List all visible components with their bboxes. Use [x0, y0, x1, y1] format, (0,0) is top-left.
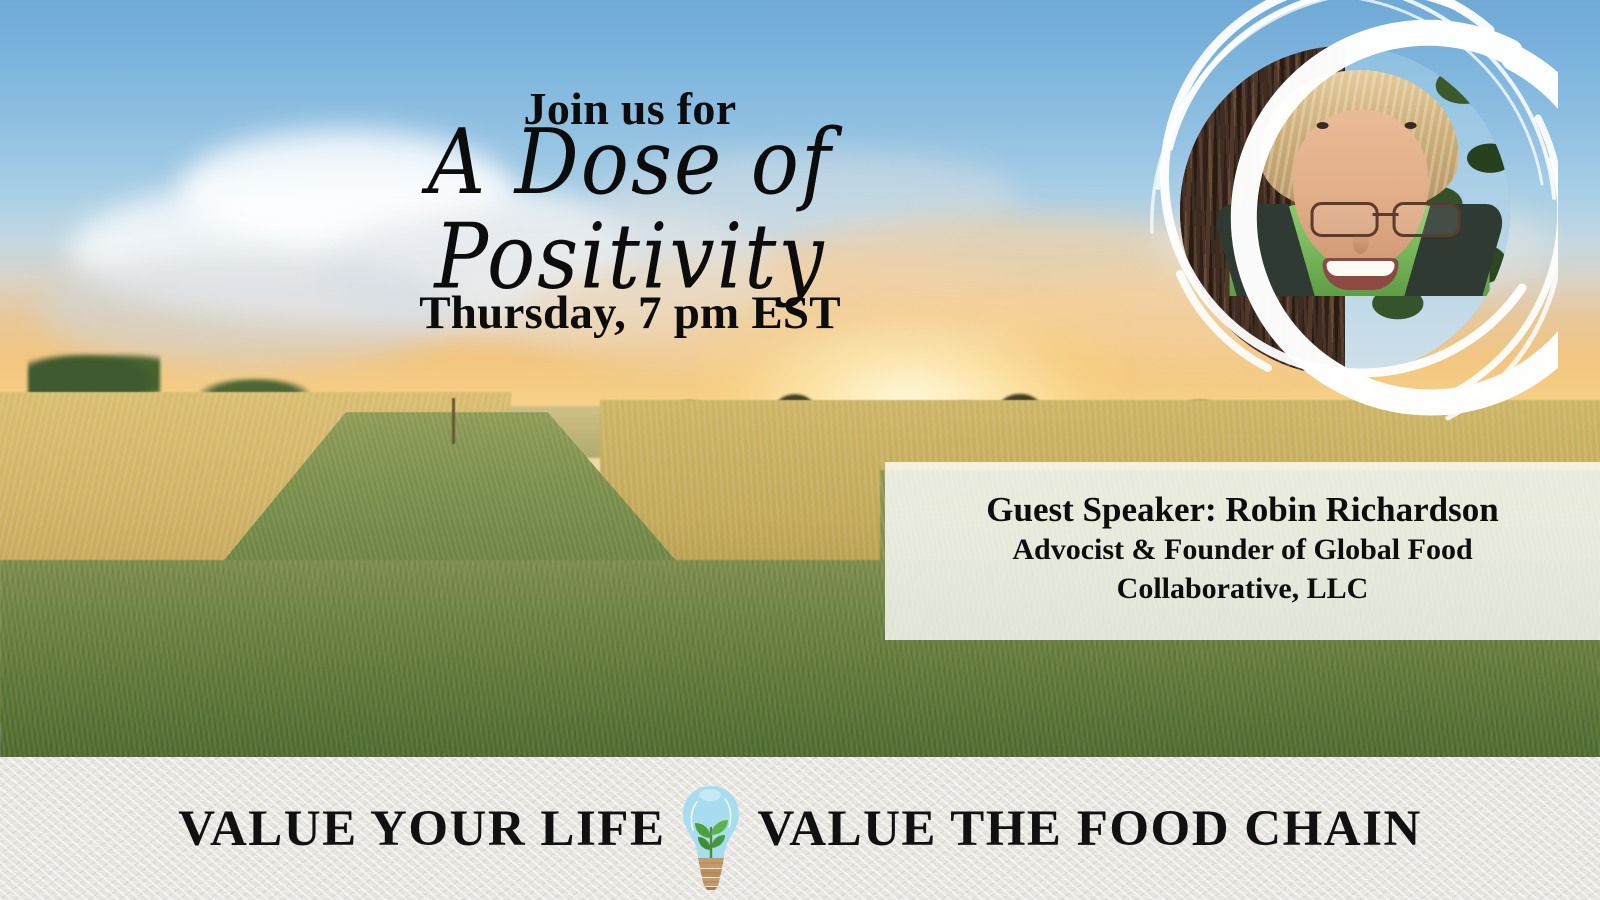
event-title: A Dose of Positivity	[240, 116, 1020, 304]
lightbulb-with-seedling-icon	[679, 782, 743, 890]
brush-circle-icon	[1118, 0, 1558, 448]
speaker-role-line-2: Collaborative, LLC	[1117, 570, 1369, 608]
event-promo-poster: Join us for A Dose of Positivity Thursda…	[0, 0, 1600, 900]
tagline-right: VALUE THE FOOD CHAIN	[757, 800, 1421, 858]
tagline-banner: VALUE YOUR LIFE	[0, 757, 1600, 900]
tagline-left: VALUE YOUR LIFE	[178, 800, 665, 858]
fence-post	[452, 398, 455, 444]
speaker-role-line-1: Advocist & Founder of Global Food	[1012, 531, 1472, 569]
speaker-portrait-frame	[1118, 0, 1558, 448]
speaker-info-box: Guest Speaker: Robin Richardson Advocist…	[885, 462, 1600, 640]
speaker-name-line: Guest Speaker: Robin Richardson	[986, 490, 1498, 529]
headline-group: Join us for A Dose of Positivity Thursda…	[240, 86, 1020, 337]
